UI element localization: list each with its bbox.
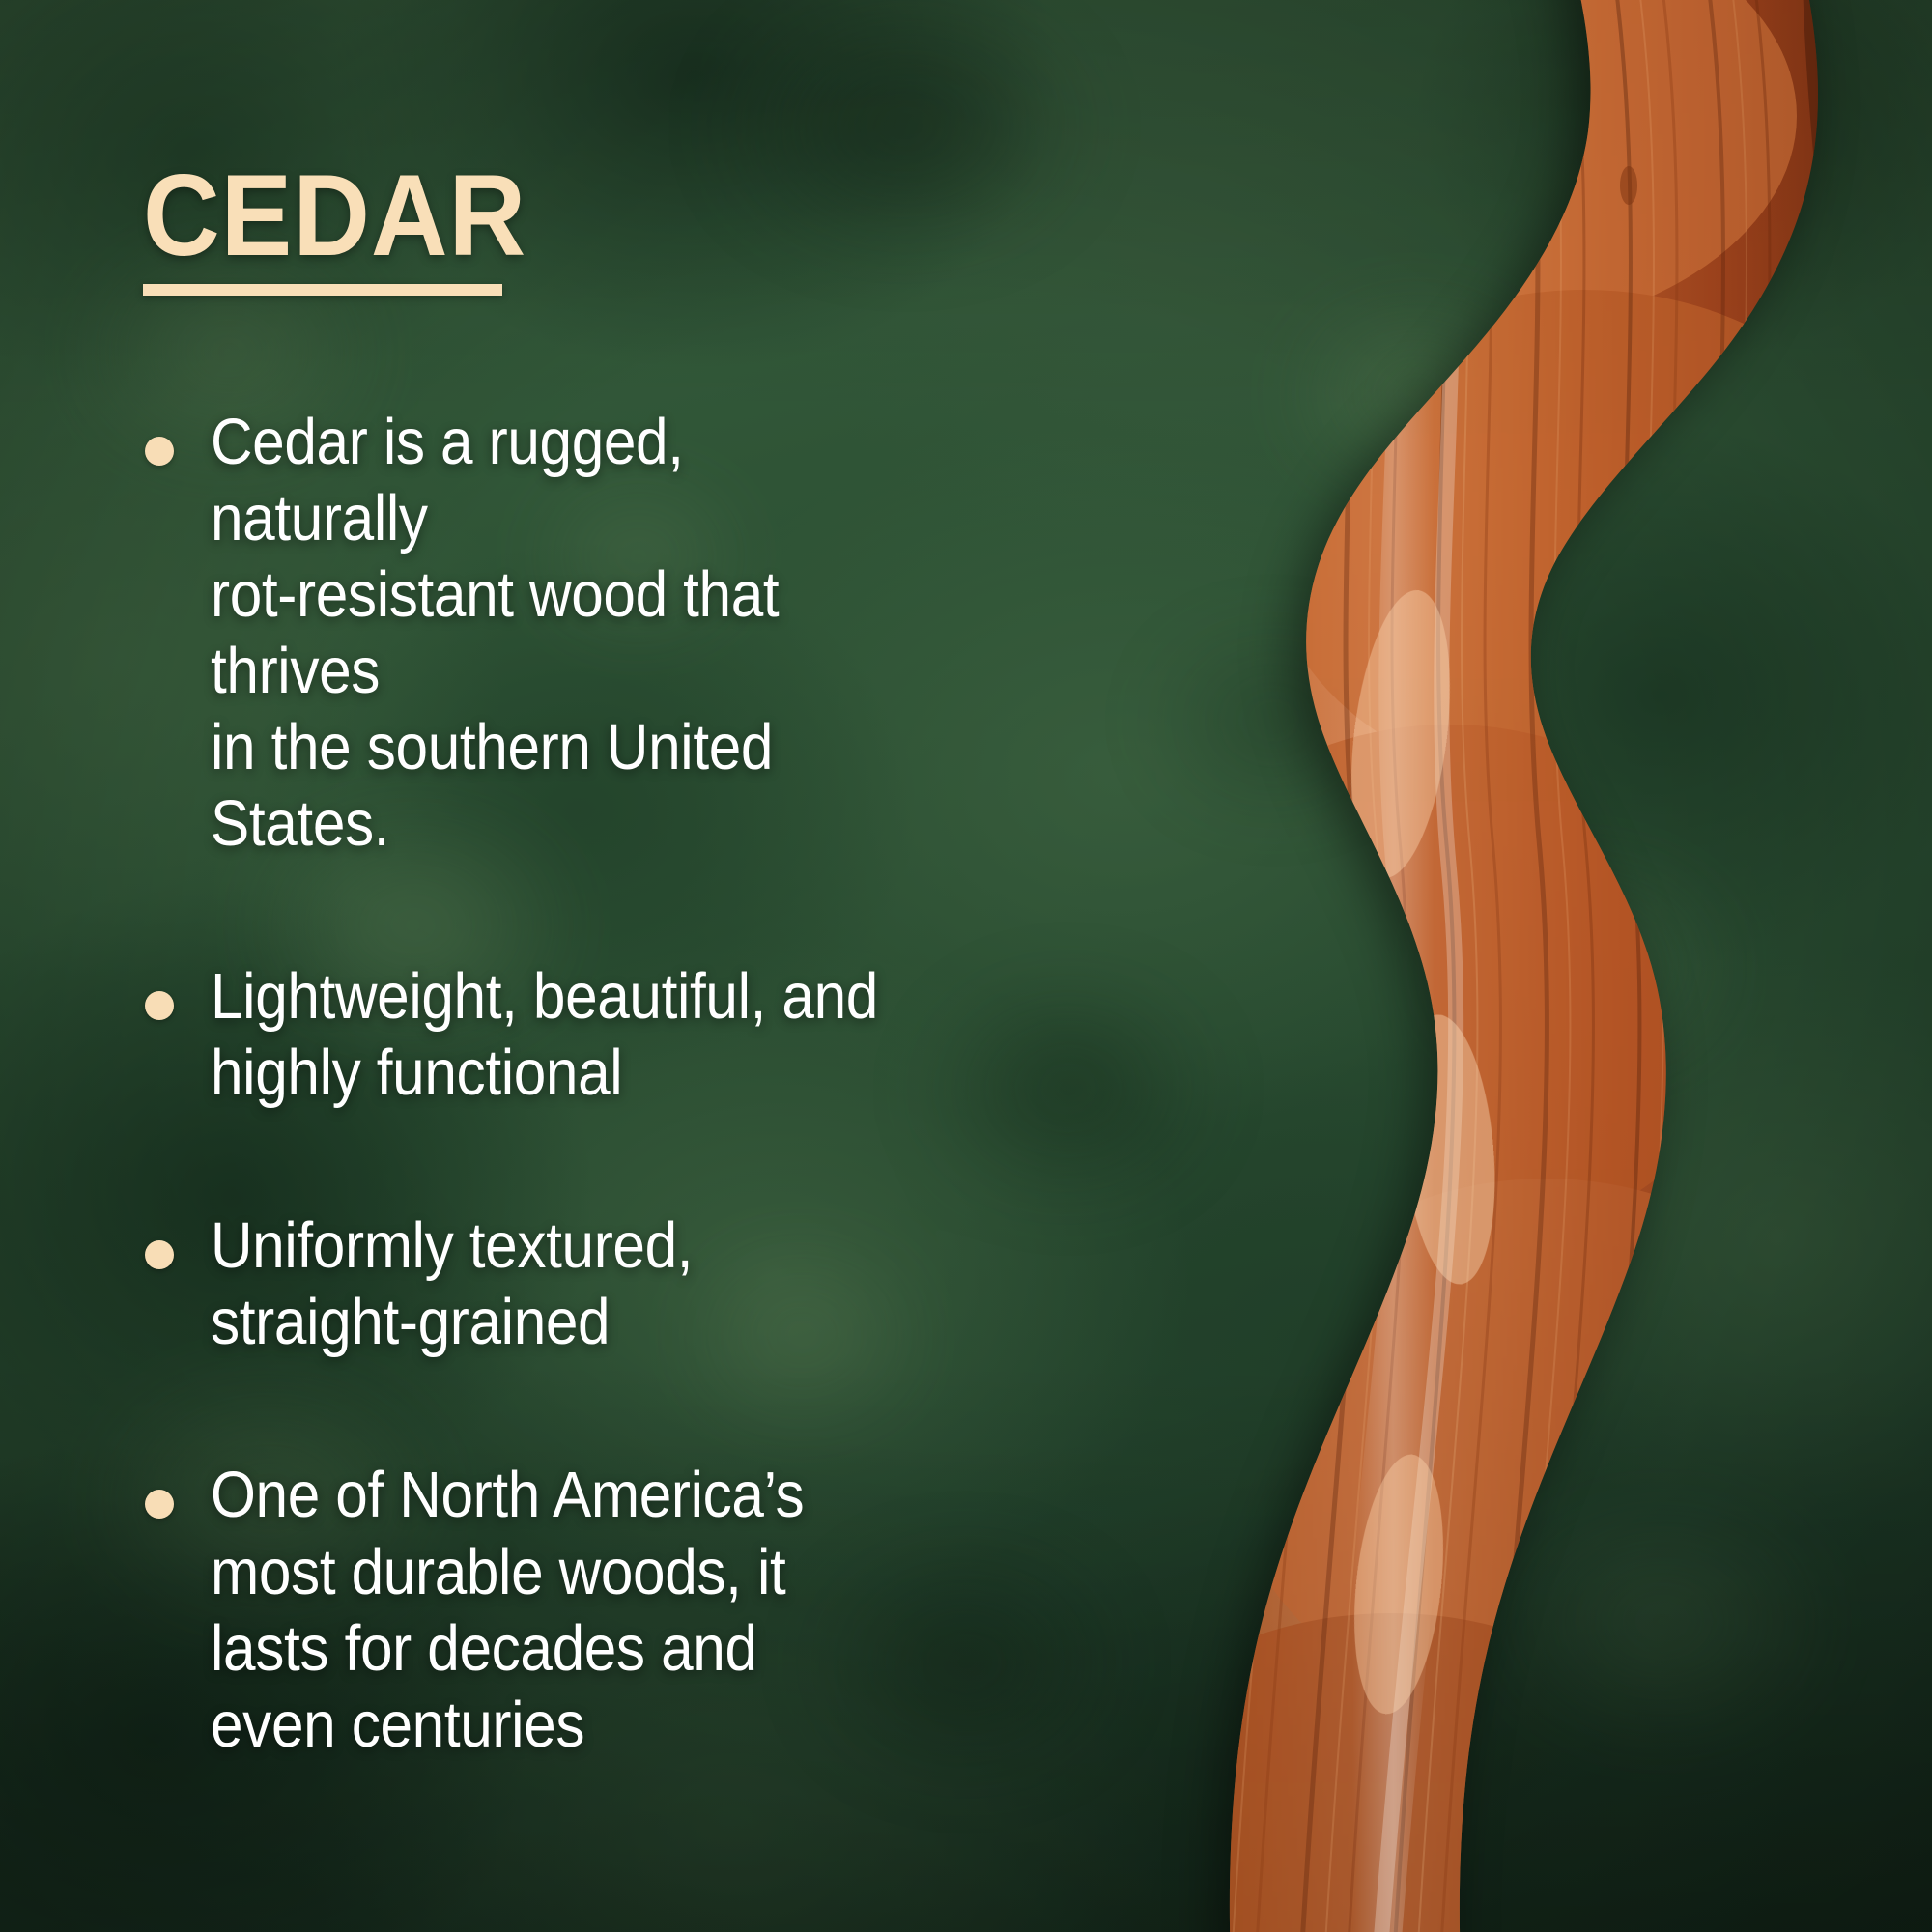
bullet-text: One of North America’s most durable wood… bbox=[211, 1457, 908, 1762]
page-title: CEDAR bbox=[143, 162, 526, 269]
list-item: Uniformly textured, straight-grained bbox=[135, 1207, 985, 1360]
bullet-text: Uniformly textured, straight-grained bbox=[211, 1207, 908, 1360]
bullet-dot-icon bbox=[145, 1240, 174, 1269]
title-underline bbox=[143, 284, 502, 296]
bullet-text: Cedar is a rugged, naturally rot-resista… bbox=[211, 404, 908, 862]
bullet-dot-icon bbox=[145, 1490, 174, 1519]
title-block: CEDAR bbox=[143, 162, 560, 296]
list-item: Cedar is a rugged, naturally rot-resista… bbox=[135, 404, 985, 862]
bullet-dot-icon bbox=[145, 991, 174, 1020]
list-item: Lightweight, beautiful, and highly funct… bbox=[135, 958, 985, 1111]
infographic-canvas: CEDAR Cedar is a rugged, naturally rot-r… bbox=[0, 0, 1932, 1932]
bullet-text: Lightweight, beautiful, and highly funct… bbox=[211, 958, 908, 1111]
list-item: One of North America’s most durable wood… bbox=[135, 1457, 985, 1762]
walking-stick-illustration bbox=[947, 0, 1932, 1932]
text-panel: CEDAR Cedar is a rugged, naturally rot-r… bbox=[0, 0, 976, 1932]
feature-bullet-list: Cedar is a rugged, naturally rot-resista… bbox=[135, 404, 985, 1763]
bullet-dot-icon bbox=[145, 437, 174, 466]
cedar-walking-stick-photo bbox=[947, 0, 1932, 1932]
